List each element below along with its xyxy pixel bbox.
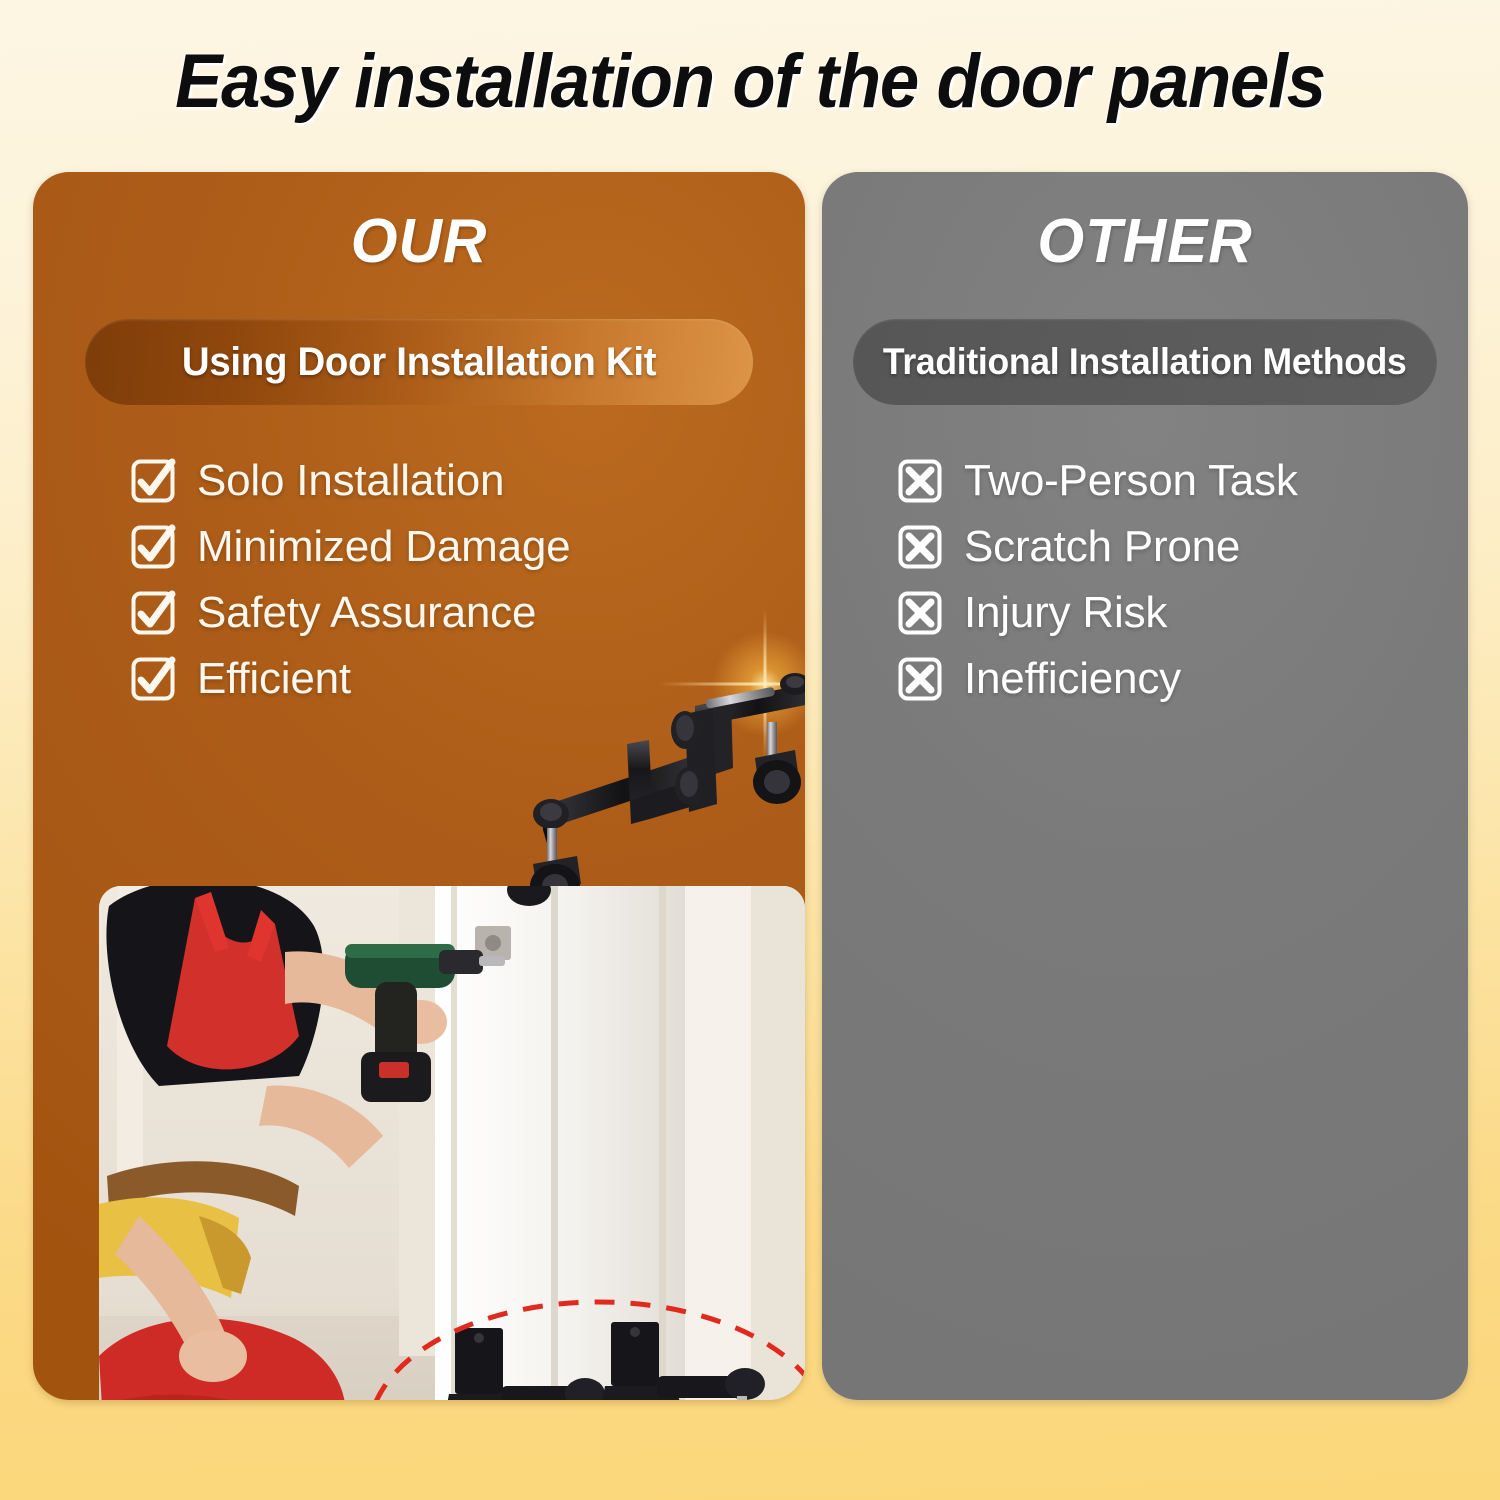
checkbox-crossed-icon [898,591,942,635]
infographic-stage: Easy installation of the door panels OUR… [0,0,1500,1500]
checkbox-crossed-icon [898,525,942,569]
panel-other-badge-label: Traditional Installation Methods [883,341,1407,383]
checkbox-checked-icon [131,591,175,635]
panel-our: OUR Using Door Installation Kit Solo Ins… [33,172,805,1400]
feature-label: Scratch Prone [964,522,1240,572]
panel-other: OTHER Traditional Installation Methods T… [822,172,1468,1400]
checkbox-checked-icon [131,525,175,569]
product-tool-image [499,654,805,904]
panel-other-feature-list: Two-Person Task Scratch Prone [898,448,1298,712]
photo-our-installation [99,886,805,1400]
feature-item: Scratch Prone [898,514,1298,580]
feature-label: Two-Person Task [964,456,1298,506]
panel-other-heading: OTHER [832,206,1459,277]
checkbox-crossed-icon [898,459,942,503]
page-title: Easy installation of the door panels [53,38,1448,125]
feature-label: Minimized Damage [197,522,570,572]
feature-label: Inefficiency [964,654,1181,704]
feature-item: Safety Assurance [131,580,570,646]
checkbox-crossed-icon [898,657,942,701]
feature-label: Safety Assurance [197,588,536,638]
feature-label: Solo Installation [197,456,504,506]
feature-item: Two-Person Task [898,448,1298,514]
feature-label: Injury Risk [964,588,1167,638]
feature-item: Solo Installation [131,448,570,514]
feature-label: Efficient [197,654,351,704]
checkbox-checked-icon [131,459,175,503]
panel-our-heading: OUR [45,206,794,277]
panel-other-badge: Traditional Installation Methods [853,319,1437,405]
feature-item: Inefficiency [898,646,1298,712]
checkbox-checked-icon [131,657,175,701]
panel-our-badge-label: Using Door Installation Kit [182,340,656,385]
feature-item: Minimized Damage [131,514,570,580]
feature-item: Injury Risk [898,580,1298,646]
panel-our-badge: Using Door Installation Kit [85,319,753,405]
